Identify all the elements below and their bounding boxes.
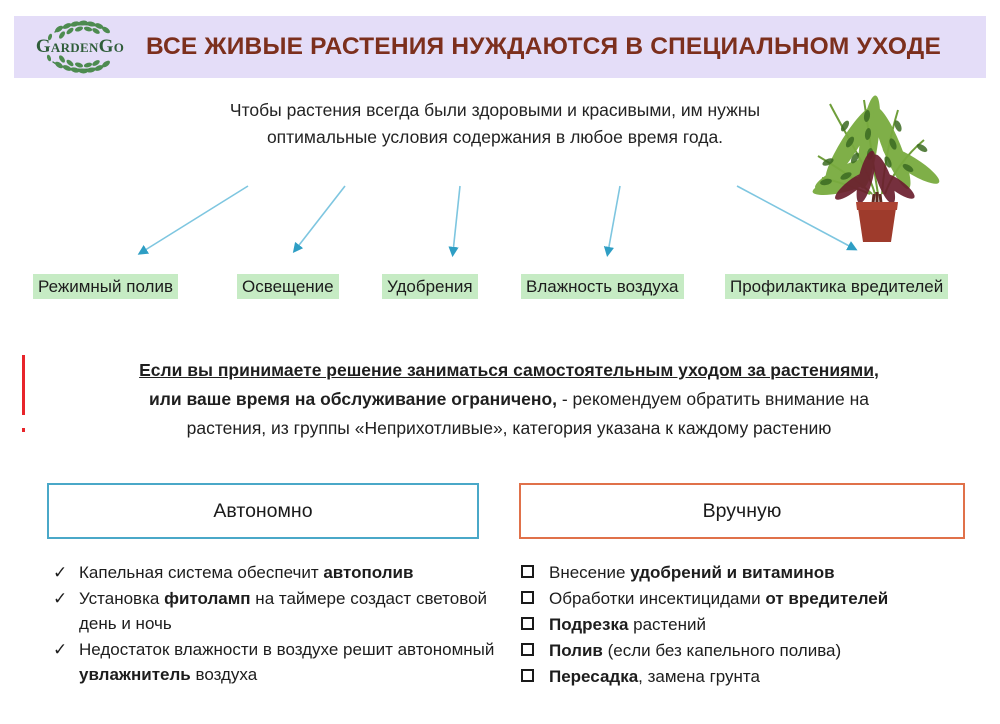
empty-checkbox-icon[interactable]	[521, 612, 549, 630]
manual-item-2-bold: от вредителей	[765, 589, 888, 608]
tag-label-2: Освещение	[242, 277, 334, 296]
manual-item-1-pre: Внесение	[549, 563, 630, 582]
auto-item-2-bold: фитоламп	[164, 589, 251, 608]
quote-accent-dot	[22, 428, 25, 432]
auto-item-1-pre: Капельная система обеспечит	[79, 563, 323, 582]
auto-item-3-bold: увлажнитель	[79, 665, 191, 684]
tag-item-3[interactable]: Удобрения	[382, 274, 478, 299]
manual-item-3-post: растений	[628, 615, 706, 634]
quote-line-2-rest: - рекомендуем обратить внимание на	[557, 389, 869, 409]
brand-logo: GardenGo	[14, 16, 146, 78]
list-item: Подрезка растений	[521, 612, 971, 637]
manual-item-text-2: Обработки инсектицидами от вредителей	[549, 586, 971, 611]
intro-paragraph: Чтобы растения всегда были здоровыми и к…	[150, 97, 840, 151]
auto-item-3-pre: Недостаток влажности в воздухе решит авт…	[79, 640, 494, 659]
intro-line-1: Чтобы растения всегда были здоровыми и к…	[150, 97, 840, 124]
auto-list: ✓ Капельная система обеспечит автополив …	[47, 560, 497, 688]
panel-header-auto: Автономно	[47, 483, 479, 539]
list-item: Обработки инсектицидами от вредителей	[521, 586, 971, 611]
quote-line-2-bold: или ваше время на обслуживание ограничен…	[149, 389, 557, 409]
auto-item-text-2: Установка фитоламп на таймере создаст св…	[79, 586, 497, 636]
manual-list: Внесение удобрений и витаминов Обработки…	[521, 560, 971, 690]
check-icon: ✓	[47, 637, 79, 662]
plant-photo	[812, 82, 962, 247]
empty-checkbox-icon[interactable]	[521, 638, 549, 656]
manual-item-3-bold: Подрезка	[549, 615, 628, 634]
list-item: Полив (если без капельного полива)	[521, 638, 971, 663]
check-icon: ✓	[47, 560, 79, 585]
manual-item-4-post: (если без капельного полива)	[603, 641, 841, 660]
manual-item-5-bold: Пересадка	[549, 667, 638, 686]
empty-checkbox-icon[interactable]	[521, 560, 549, 578]
list-item: ✓ Недостаток влажности в воздухе решит а…	[47, 637, 497, 687]
list-item: ✓ Установка фитоламп на таймере создаст …	[47, 586, 497, 636]
list-item: ✓ Капельная система обеспечит автополив	[47, 560, 497, 585]
manual-item-2-pre: Обработки инсектицидами	[549, 589, 765, 608]
intro-line-2: оптимальные условия содержания в любое в…	[150, 124, 840, 151]
auto-item-1-bold: автополив	[323, 563, 413, 582]
potted-plant-illustration	[812, 82, 962, 247]
manual-item-5-post: , замена грунта	[638, 667, 760, 686]
auto-item-3-post: воздуха	[191, 665, 257, 684]
tag-label-4: Влажность воздуха	[526, 277, 679, 296]
manual-item-text-3: Подрезка растений	[549, 612, 971, 637]
manual-item-4-bold: Полив	[549, 641, 603, 660]
tag-item-5[interactable]: Профилактика вредителей	[725, 274, 948, 299]
manual-item-text-5: Пересадка, замена грунта	[549, 664, 971, 689]
panel-title-auto: Автономно	[213, 500, 312, 523]
tag-label-1: Режимный полив	[38, 277, 173, 296]
arrow-to-tag-3	[453, 186, 460, 252]
manual-item-text-4: Полив (если без капельного полива)	[549, 638, 971, 663]
tag-item-1[interactable]: Режимный полив	[33, 274, 178, 299]
arrow-to-tag-1	[142, 186, 248, 252]
tag-label-5: Профилактика вредителей	[730, 277, 943, 296]
arrow-to-tag-2	[296, 186, 345, 249]
auto-item-2-pre: Установка	[79, 589, 164, 608]
header-band: GardenGo ВСЕ ЖИВЫЕ РАСТЕНИЯ НУЖДАЮТСЯ В …	[14, 16, 986, 78]
empty-checkbox-icon[interactable]	[521, 664, 549, 682]
tag-label-3: Удобрения	[387, 277, 473, 296]
auto-item-text-3: Недостаток влажности в воздухе решит авт…	[79, 637, 497, 687]
quote-line-1: Если вы принимаете решение заниматься са…	[139, 360, 879, 380]
empty-checkbox-icon[interactable]	[521, 586, 549, 604]
page-title: ВСЕ ЖИВЫЕ РАСТЕНИЯ НУЖДАЮТСЯ В СПЕЦИАЛЬН…	[146, 33, 1000, 61]
auto-item-text-1: Капельная система обеспечит автополив	[79, 560, 497, 585]
list-item: Внесение удобрений и витаминов	[521, 560, 971, 585]
arrow-to-tag-4	[608, 186, 620, 252]
brand-logo-text: GardenGo	[36, 36, 124, 58]
tag-item-2[interactable]: Освещение	[237, 274, 339, 299]
manual-item-text-1: Внесение удобрений и витаминов	[549, 560, 971, 585]
quote-accent-bar	[22, 355, 25, 415]
list-item: Пересадка, замена грунта	[521, 664, 971, 689]
quote-paragraph: Если вы принимаете решение заниматься са…	[44, 356, 974, 443]
quote-line-3: растения, из группы «Неприхотливые», кат…	[187, 418, 832, 438]
check-icon: ✓	[47, 586, 79, 611]
panel-title-manual: Вручную	[703, 500, 782, 523]
panel-header-manual: Вручную	[519, 483, 965, 539]
manual-item-1-bold: удобрений и витаминов	[630, 563, 834, 582]
tag-item-4[interactable]: Влажность воздуха	[521, 274, 684, 299]
